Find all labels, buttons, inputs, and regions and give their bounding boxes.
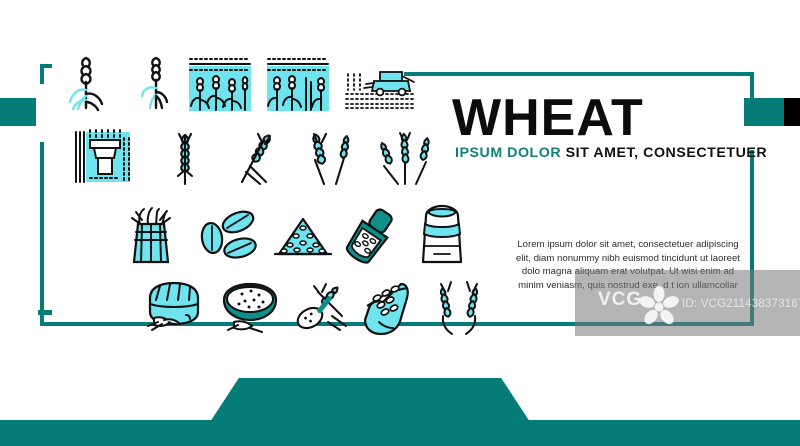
- grain-spoon-icon: [288, 282, 354, 334]
- wheat-ear-single-icon: [165, 132, 205, 186]
- wheat-ear-tilted-icon: [228, 130, 284, 186]
- frame-line-left: [40, 142, 44, 326]
- frame-line-top: [404, 72, 754, 76]
- watermark-id: ID: VCG211438373167: [682, 298, 800, 310]
- page-subtitle: IPSUM DOLOR SIT AMET, CONSECTETUER: [455, 146, 767, 160]
- wheat-grains-icon: [196, 208, 262, 264]
- bottom-trapezoid-shape: [210, 378, 530, 422]
- frame-tick-left: [38, 310, 52, 315]
- watermark-brand: VCG: [598, 290, 642, 309]
- grain-pile-icon: [272, 216, 334, 262]
- harvester-field-icon: [344, 64, 416, 110]
- wheat-sprout-icon: [130, 52, 182, 112]
- hand-with-grain-icon: [355, 278, 421, 336]
- banner-canvas: WHEAT IPSUM DOLOR SIT AMET, CONSECTETUER…: [0, 0, 800, 446]
- bread-loaf-icon: [140, 280, 206, 332]
- wheat-field-icon: [188, 56, 252, 112]
- page-subtitle-rest: SIT AMET, CONSECTETUER: [566, 145, 768, 161]
- wheat-ears-pair-icon: [298, 130, 360, 186]
- wheat-field-rows-icon: [266, 56, 330, 112]
- watermark-flower-icon: [638, 286, 680, 328]
- bottom-bar: [0, 420, 800, 446]
- frame-line-top-cap: [750, 72, 754, 98]
- frame-corner-notch-horizontal: [40, 64, 52, 68]
- accent-block-left: [0, 98, 36, 126]
- flour-bowl-icon: [218, 280, 282, 334]
- page-title: WHEAT: [452, 92, 644, 144]
- page-subtitle-accent: IPSUM DOLOR: [455, 145, 561, 161]
- grain-scoop-icon: [340, 204, 402, 266]
- accent-block-right-shadow: [784, 98, 800, 126]
- wheat-plant-icon: [58, 52, 114, 112]
- wheat-ears-trio-icon: [372, 130, 436, 186]
- wheat-wreath-icon: [430, 278, 488, 336]
- combine-harvester-icon: [74, 128, 134, 184]
- accent-block-right: [744, 98, 784, 126]
- grain-sack-icon: [414, 204, 470, 266]
- wheat-sheaf-icon: [126, 206, 176, 266]
